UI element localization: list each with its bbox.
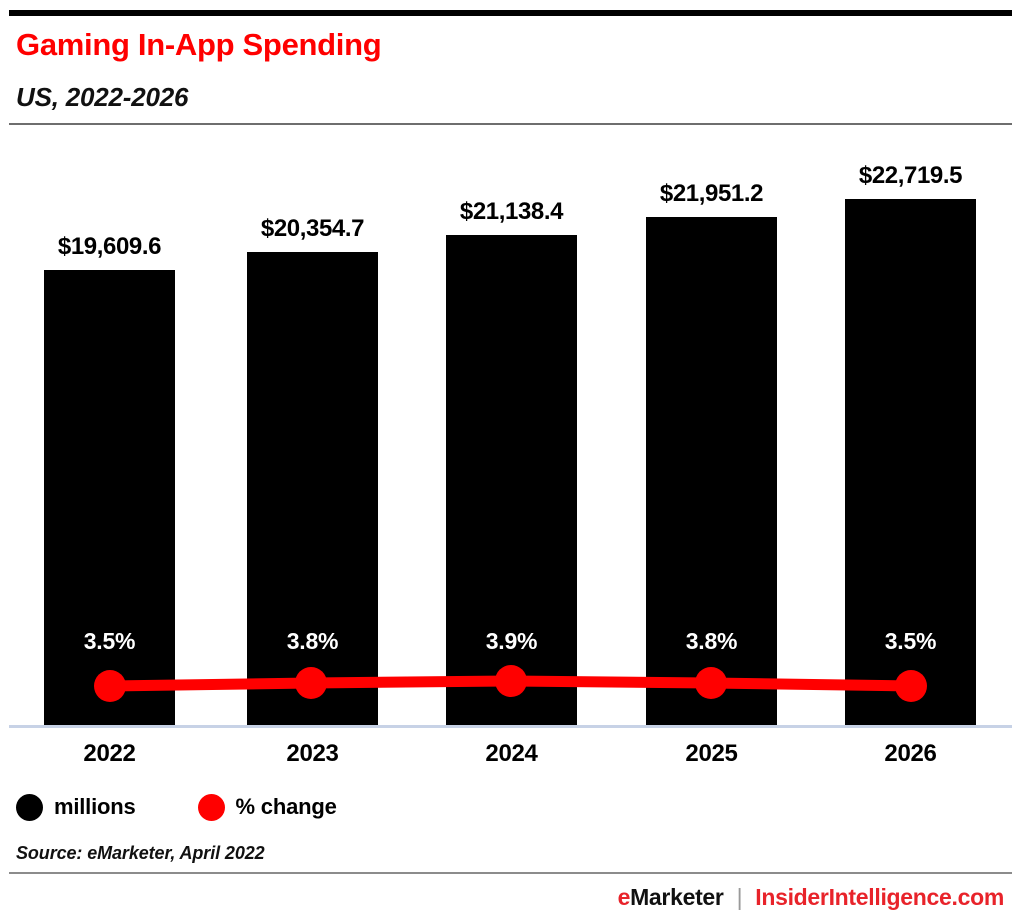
legend-item-percent-change[interactable]: % change (198, 794, 337, 821)
percent-change-label: 3.8% (247, 628, 378, 655)
category-label-2024: 2024 (446, 740, 577, 768)
footer-divider (9, 872, 1012, 874)
category-label-2023: 2023 (247, 740, 378, 768)
brand-separator: | (737, 884, 743, 911)
bar-value-label: $21,951.2 (646, 180, 777, 208)
bar-value-label: $21,138.4 (446, 198, 577, 226)
plot-area: $19,609.63.5%$20,354.73.8%$21,138.43.9%$… (0, 0, 1020, 920)
category-label-2025: 2025 (646, 740, 777, 768)
bar-2022 (44, 270, 175, 725)
source-note: Source: eMarketer, April 2022 (16, 843, 265, 864)
brand-website-link[interactable]: InsiderIntelligence.com (755, 884, 1004, 911)
chart-root: Gaming In-App Spending US, 2022-2026 $19… (0, 0, 1020, 920)
percent-change-label: 3.5% (845, 628, 976, 655)
percent-change-label: 3.5% (44, 628, 175, 655)
brand-bar: eMarketer | InsiderIntelligence.com (618, 884, 1004, 911)
percent-change-label: 3.8% (646, 628, 777, 655)
category-label-2026: 2026 (845, 740, 976, 768)
red-circle-icon (198, 794, 225, 821)
bar-value-label: $22,719.5 (845, 162, 976, 190)
legend-label: % change (236, 794, 337, 820)
percent-change-label: 3.9% (446, 628, 577, 655)
x-axis-baseline (9, 725, 1012, 728)
brand-name: Marketer (630, 884, 724, 911)
brand-prefix: e (618, 884, 631, 911)
bar-value-label: $20,354.7 (247, 215, 378, 243)
legend-item-millions[interactable]: millions (16, 794, 136, 821)
chart-legend: millions% change (16, 790, 399, 824)
black-circle-icon (16, 794, 43, 821)
legend-label: millions (54, 794, 136, 820)
category-label-2022: 2022 (44, 740, 175, 768)
bar-value-label: $19,609.6 (44, 233, 175, 261)
